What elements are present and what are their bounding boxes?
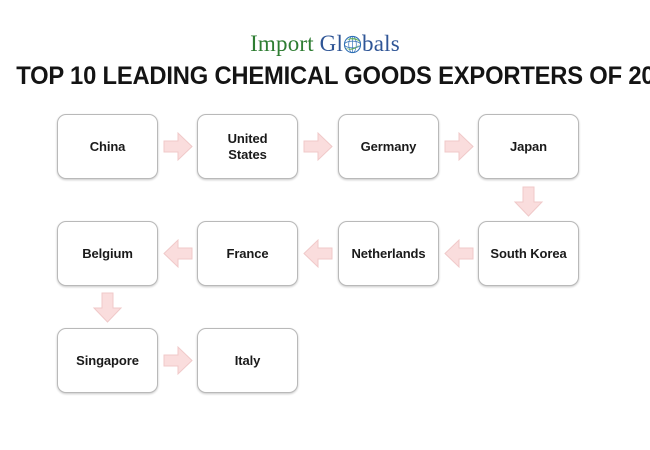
- node-label: France: [222, 246, 272, 262]
- node-label: South Korea: [486, 246, 570, 262]
- node-box-united-states[interactable]: United States: [197, 114, 298, 179]
- flow-diagram: China United States Germany Japan South …: [0, 0, 650, 450]
- node-label: Italy: [231, 353, 265, 369]
- arrow-right-germany-to-japan: [444, 131, 474, 162]
- node-label: Belgium: [78, 246, 137, 262]
- arrow-right-china-to-united-states: [163, 131, 193, 162]
- node-label: Singapore: [72, 353, 143, 369]
- node-label: Japan: [506, 139, 551, 155]
- node-box-china[interactable]: China: [57, 114, 158, 179]
- node-label: China: [86, 139, 130, 155]
- arrow-left-south-korea-to-netherlands: [444, 238, 474, 269]
- node-box-netherlands[interactable]: Netherlands: [338, 221, 439, 286]
- arrow-right-united-states-to-germany: [303, 131, 333, 162]
- node-label: United States: [224, 131, 272, 163]
- node-box-japan[interactable]: Japan: [478, 114, 579, 179]
- arrow-left-netherlands-to-france: [303, 238, 333, 269]
- node-box-singapore[interactable]: Singapore: [57, 328, 158, 393]
- arrow-down-belgium-to-singapore: [92, 292, 123, 324]
- node-label: Netherlands: [347, 246, 429, 262]
- node-box-south-korea[interactable]: South Korea: [478, 221, 579, 286]
- node-box-italy[interactable]: Italy: [197, 328, 298, 393]
- arrow-right-singapore-to-italy: [163, 345, 193, 376]
- node-box-france[interactable]: France: [197, 221, 298, 286]
- arrow-down-japan-to-south-korea: [513, 186, 544, 218]
- arrow-left-france-to-belgium: [163, 238, 193, 269]
- node-box-belgium[interactable]: Belgium: [57, 221, 158, 286]
- node-box-germany[interactable]: Germany: [338, 114, 439, 179]
- node-label: Germany: [357, 139, 421, 155]
